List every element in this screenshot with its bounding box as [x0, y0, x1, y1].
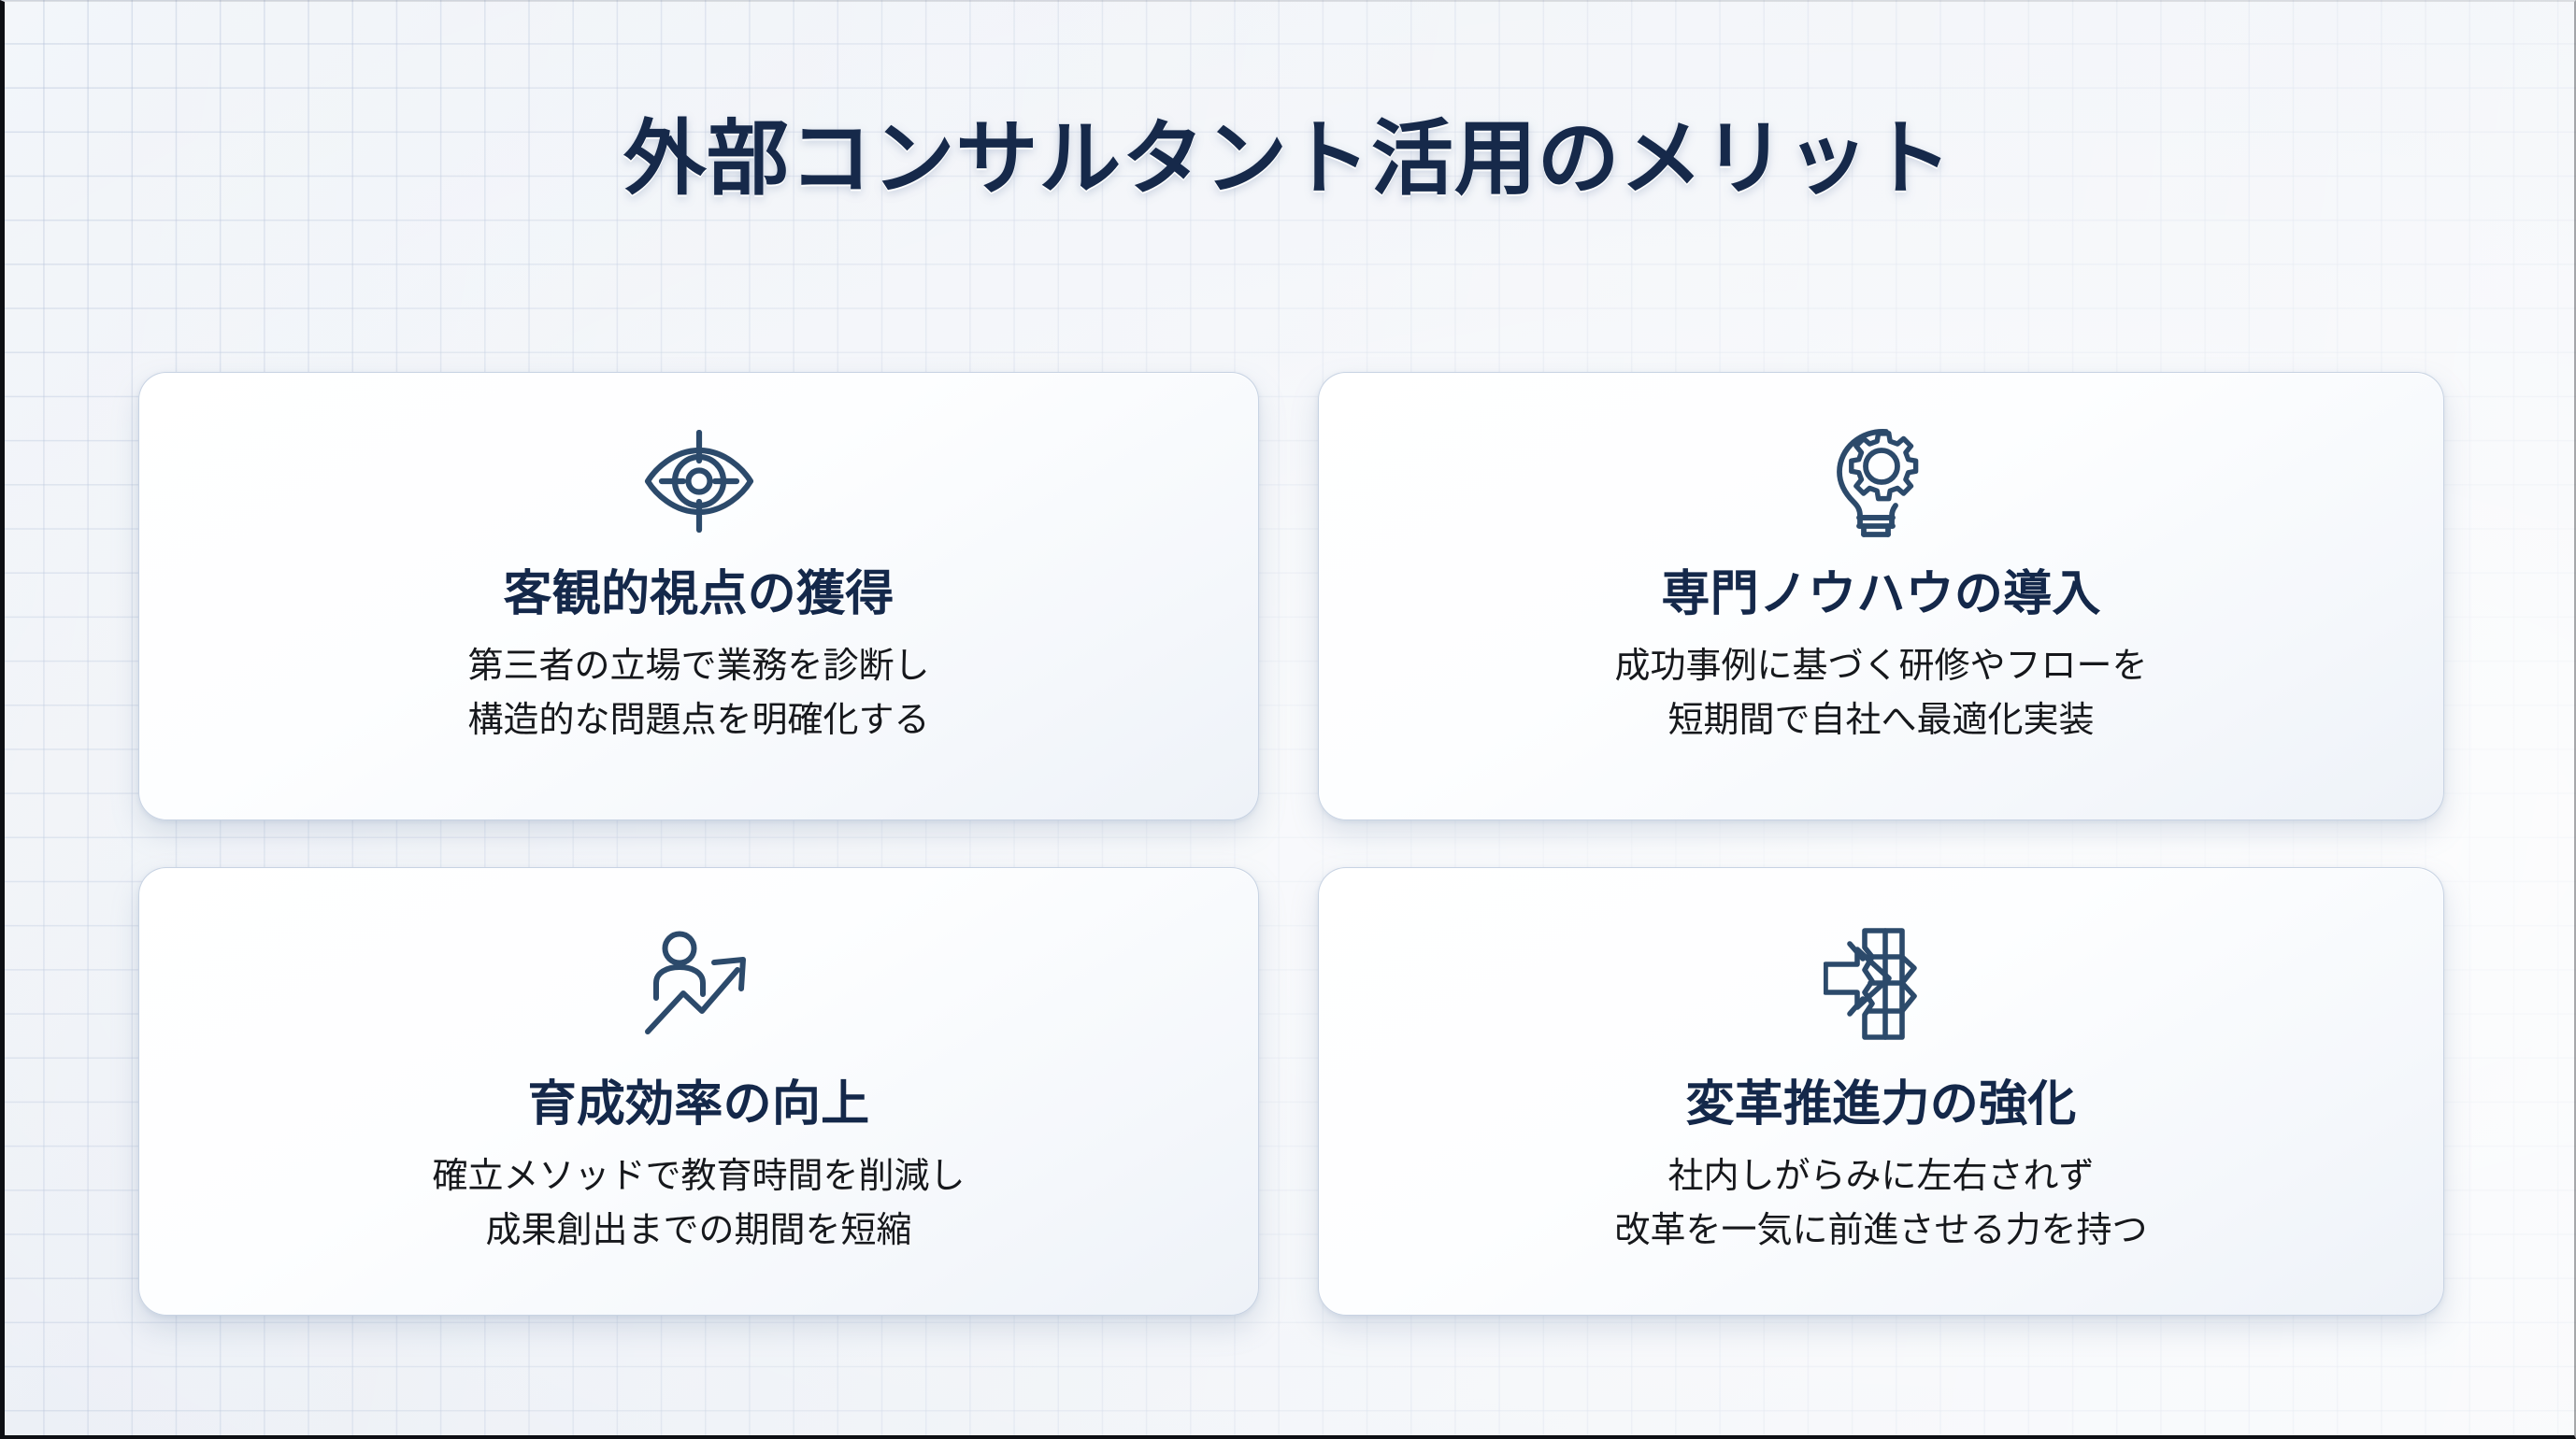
card-heading: 変革推進力の強化 — [1685, 1076, 2076, 1133]
lightbulb-gear-icon — [1822, 421, 1941, 541]
arrow-breaking-wall-icon — [1822, 924, 1941, 1044]
card-description: 第三者の立場で業務を診断し 構造的な問題点を明確化する — [467, 640, 929, 748]
card-heading: 育成効率の向上 — [528, 1076, 870, 1133]
page-title: 外部コンサルタント活用のメリット — [0, 110, 2576, 207]
person-growth-arrow-icon — [639, 924, 759, 1044]
eye-target-icon — [639, 421, 759, 541]
card-description: 成功事例に基づく研修やフローを 短期間で自社へ最適化実装 — [1614, 640, 2147, 748]
card-description-line-2: 改革を一気に前進させる力を持つ — [1614, 1204, 2147, 1259]
benefit-card-objective-viewpoint[interactable]: 客観的視点の獲得 第三者の立場で業務を診断し 構造的な問題点を明確化する — [138, 372, 1259, 820]
card-heading: 客観的視点の獲得 — [503, 565, 894, 623]
slide-canvas: 外部コンサルタント活用のメリット 客観的視点の獲得 第三者の立場で業務を診断し … — [0, 0, 2576, 1439]
benefit-card-expert-knowhow[interactable]: 専門ノウハウの導入 成功事例に基づく研修やフローを 短期間で自社へ最適化実装 — [1318, 372, 2444, 820]
card-description: 確立メソッドで教育時間を削減し 成果創出までの期間を短縮 — [432, 1150, 965, 1259]
card-description-line-1: 成功事例に基づく研修やフローを — [1614, 640, 2147, 694]
benefit-card-training-efficiency[interactable]: 育成効率の向上 確立メソッドで教育時間を削減し 成果創出までの期間を短縮 — [138, 867, 1259, 1316]
card-description-line-2: 成果創出までの期間を短縮 — [432, 1204, 965, 1259]
card-description-line-2: 構造的な問題点を明確化する — [467, 694, 929, 748]
card-description-line-1: 第三者の立場で業務を診断し — [467, 640, 929, 694]
card-description-line-1: 社内しがらみに左右されず — [1614, 1150, 2147, 1204]
benefit-card-transformation-drive[interactable]: 変革推進力の強化 社内しがらみに左右されず 改革を一気に前進させる力を持つ — [1318, 867, 2444, 1316]
card-heading: 専門ノウハウの導入 — [1661, 565, 2100, 623]
benefit-card-grid: 客観的視点の獲得 第三者の立場で業務を診断し 構造的な問題点を明確化する — [138, 372, 2444, 1316]
card-description-line-1: 確立メソッドで教育時間を削減し — [432, 1150, 965, 1204]
card-description-line-2: 短期間で自社へ最適化実装 — [1614, 694, 2147, 748]
card-description: 社内しがらみに左右されず 改革を一気に前進させる力を持つ — [1614, 1150, 2147, 1259]
